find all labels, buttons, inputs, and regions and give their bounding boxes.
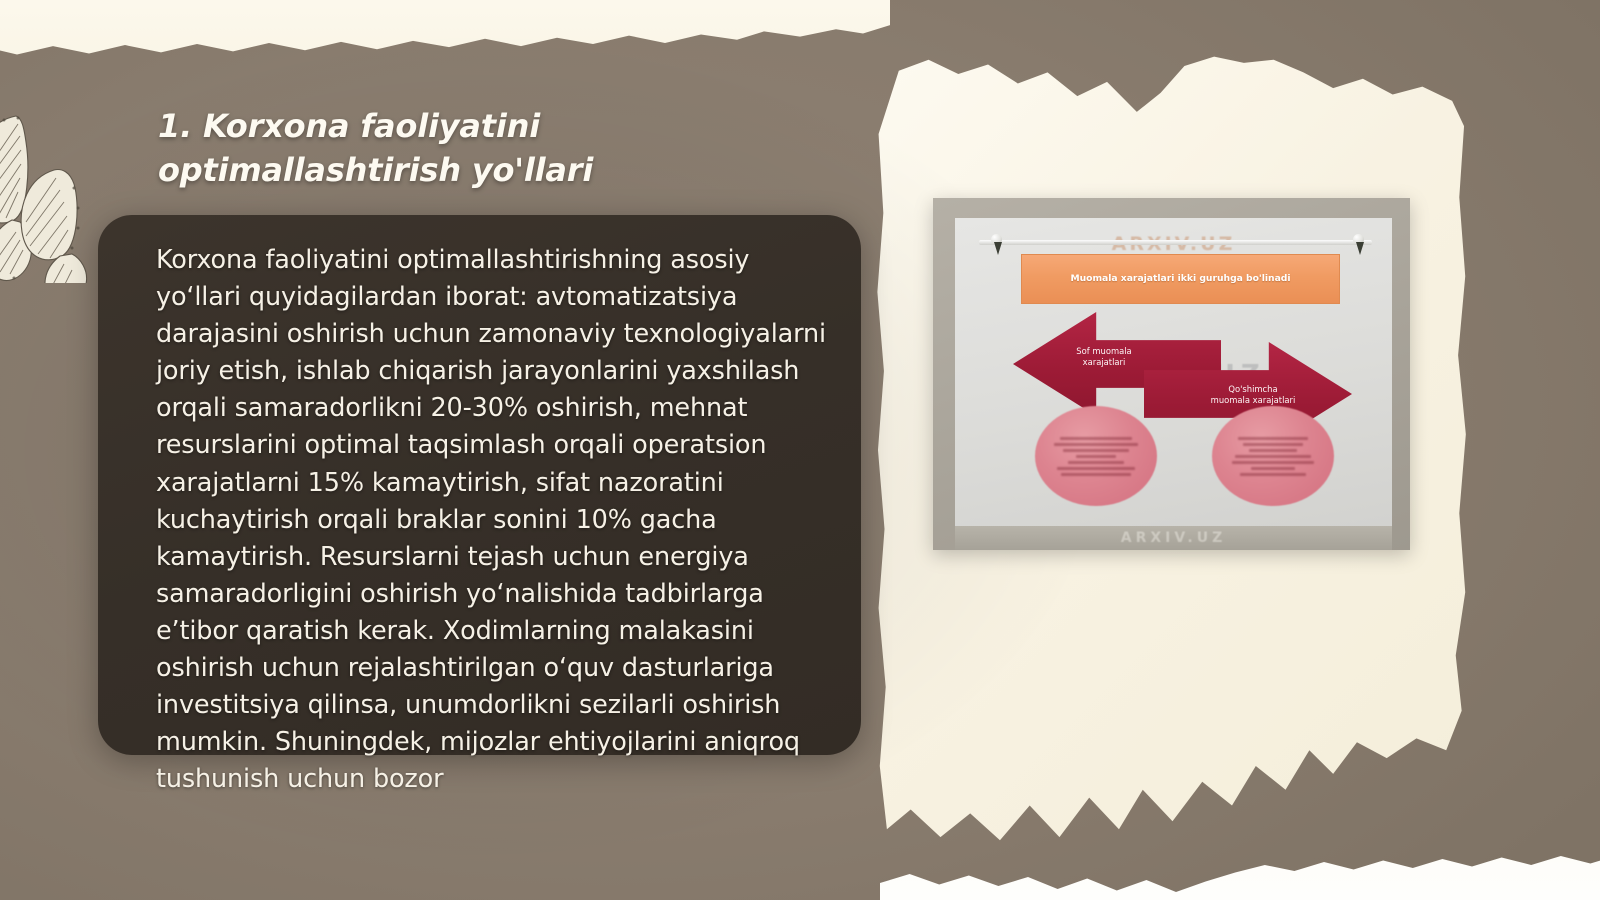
body-paragraph: Korxona faoliyatini optimallashtirishnin…: [156, 242, 836, 798]
poster-footer-watermark-strip: ARXIV.UZ: [955, 526, 1392, 550]
poster-inner-board: ARXIV.UZ ARXIV.UZ Muomala xarajatlari ik…: [955, 218, 1392, 526]
diagram-poster: ARXIV.UZ ARXIV.UZ Muomala xarajatlari ik…: [933, 198, 1410, 550]
arrow-right-label: Qo'shimcha muomala xarajatlari: [1188, 384, 1318, 406]
poster-rail-bar: [979, 240, 1372, 245]
slide-heading: 1. Korxona faoliyatini optimallashtirish…: [158, 104, 858, 192]
ellipse-right-shape: [1212, 406, 1334, 506]
diagram-ellipses-group: [1013, 404, 1352, 512]
pushpin-right-icon: [1353, 234, 1366, 254]
slide-canvas: 1. Korxona faoliyatini optimallashtirish…: [0, 0, 1600, 900]
pushpin-left-icon: [991, 234, 1004, 254]
ellipse-left-shape: [1035, 406, 1157, 506]
diagram-banner-title: Muomala xarajatlari ikki guruhga bo'lina…: [1021, 254, 1340, 304]
poster-footer-watermark-text: ARXIV.UZ: [1121, 530, 1227, 546]
arrow-left-label: Sof muomala xarajatlari: [1049, 346, 1159, 368]
